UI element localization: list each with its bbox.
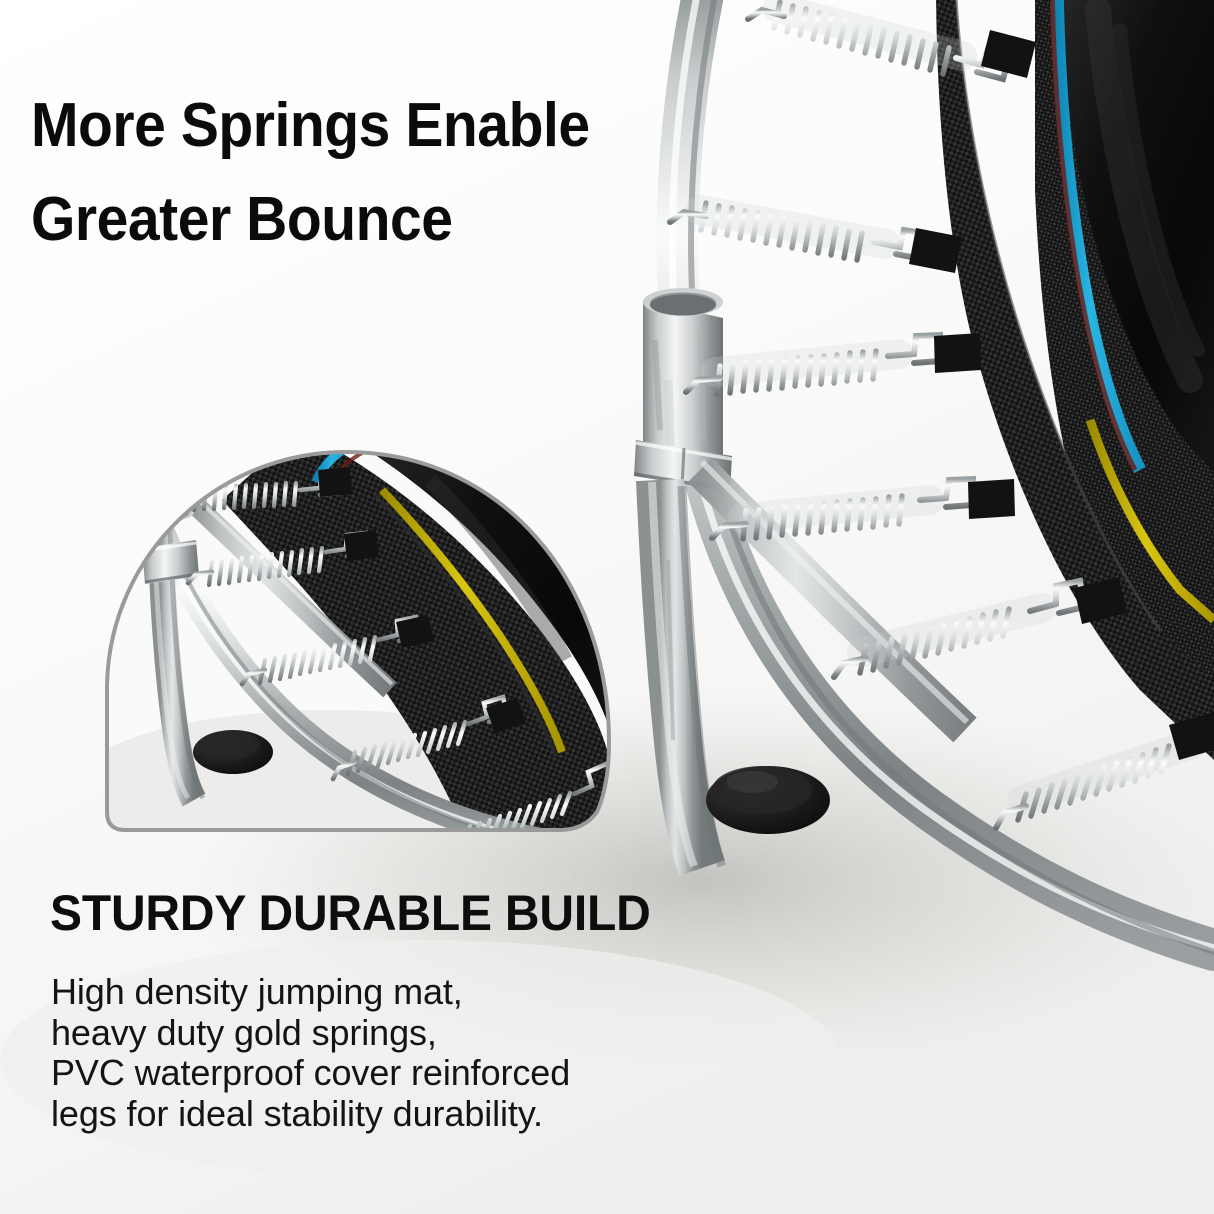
headline: More Springs Enable Greater Bounce — [31, 79, 758, 267]
body-copy: High density jumping mat, heavy duty gol… — [51, 972, 570, 1134]
subheading: STURDY DURABLE BUILD — [50, 884, 651, 942]
product-feature-graphic: More Springs Enable Greater Bounce STURD… — [0, 0, 1214, 1214]
